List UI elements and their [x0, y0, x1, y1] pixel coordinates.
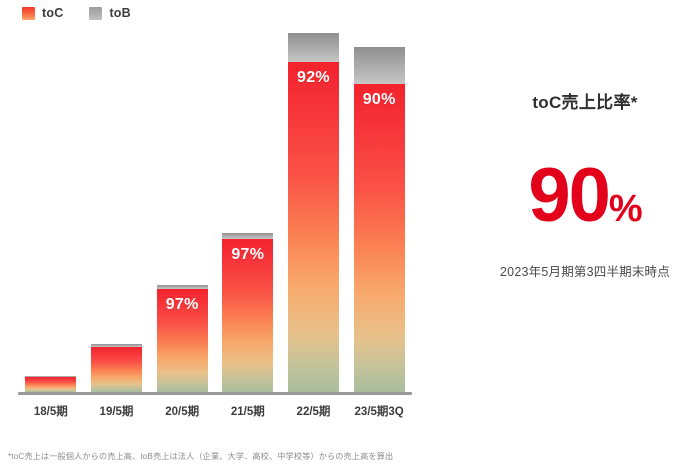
bar-group[interactable] [91, 344, 142, 392]
bar-segment-toc[interactable] [91, 347, 142, 392]
x-axis-label: 21/5期 [210, 403, 286, 419]
bar-value-label: 92% [288, 69, 339, 87]
kpi-panel: toC売上比率* 90% 2023年5月期第3四半期末時点 [470, 0, 700, 471]
chart-plot-area: 97%97%92%90% [18, 28, 412, 392]
chart-baseline-axis [18, 392, 412, 395]
bar-value-label: 97% [157, 296, 208, 314]
bar-value-label: 97% [222, 246, 273, 264]
bar-group[interactable]: 90% [354, 47, 405, 392]
x-axis-label: 22/5期 [276, 403, 352, 419]
x-axis-labels: 18/5期19/5期20/5期21/5期22/5期23/5期3Q [18, 403, 412, 423]
kpi-number-text: 90 [528, 153, 609, 238]
kpi-unit-text: % [609, 188, 642, 230]
kpi-caption: 2023年5月期第3四半期末時点 [470, 261, 700, 280]
kpi-value: 90% [470, 158, 700, 234]
chart-footnote: *toC売上は一般個人からの売上高、toB売上は法人（企業、大学、高校、中学校等… [8, 450, 393, 462]
bar-segment-toc[interactable]: 97% [157, 289, 208, 392]
bar-segment-toc[interactable]: 90% [354, 84, 405, 392]
x-axis-label: 19/5期 [79, 403, 155, 419]
bar-segment-toc[interactable]: 97% [222, 239, 273, 392]
bar-segment-toc[interactable] [25, 377, 76, 392]
bar-group[interactable]: 97% [157, 285, 208, 392]
bar-group[interactable]: 92% [288, 33, 339, 392]
kpi-title: toC売上比率* [470, 88, 700, 113]
stacked-bar-chart: 97%97%92%90% 18/5期19/5期20/5期21/5期22/5期23… [0, 0, 440, 471]
x-axis-label: 20/5期 [144, 403, 220, 419]
bar-value-label: 90% [354, 91, 405, 109]
bar-segment-tob[interactable] [288, 33, 339, 62]
x-axis-label: 23/5期3Q [341, 403, 417, 419]
bar-group[interactable]: 97% [222, 233, 273, 392]
bar-segment-tob[interactable] [354, 47, 405, 84]
x-axis-label: 18/5期 [13, 403, 89, 419]
bar-group[interactable] [25, 376, 76, 392]
bar-segment-toc[interactable]: 92% [288, 62, 339, 392]
